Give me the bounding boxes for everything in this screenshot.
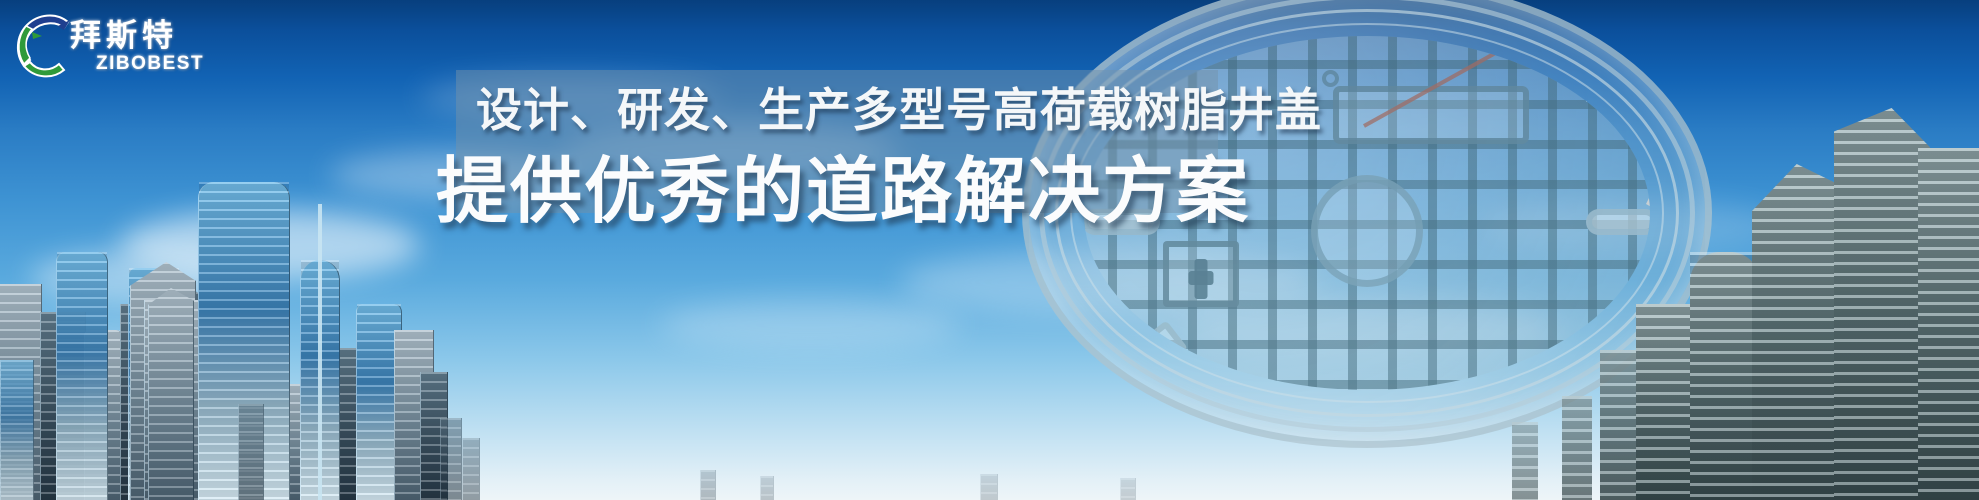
building bbox=[1562, 396, 1592, 500]
building bbox=[148, 288, 194, 500]
building bbox=[0, 360, 34, 500]
headline-line-2: 提供优秀的道路解决方案 bbox=[436, 132, 1250, 237]
building bbox=[1512, 422, 1538, 500]
logo-text-block: 拜斯特 ZIBOBEST bbox=[70, 20, 204, 73]
building bbox=[1918, 148, 1979, 500]
logo-company-name-cn: 拜斯特 bbox=[70, 20, 204, 51]
headline-group: 设计、研发、生产多型号高荷载树脂井盖 提供优秀的道路解决方案 bbox=[456, 70, 1756, 230]
building-tallest-right bbox=[1834, 108, 1930, 500]
building bbox=[238, 404, 264, 500]
building bbox=[760, 476, 774, 500]
building bbox=[462, 438, 480, 500]
logo-company-name-en: ZIBOBEST bbox=[96, 54, 204, 73]
hero-banner: 设计、研发、生产多型号高荷载树脂井盖 提供优秀的道路解决方案 拜斯特 ZIBOB… bbox=[0, 0, 1979, 500]
building bbox=[980, 474, 998, 500]
building bbox=[1120, 478, 1136, 500]
building bbox=[1752, 164, 1838, 500]
headline-line-1: 设计、研发、生产多型号高荷载树脂井盖 bbox=[476, 74, 1322, 140]
building-rounded-tower bbox=[1690, 252, 1760, 500]
building bbox=[1600, 350, 1640, 500]
company-logo[interactable]: 拜斯特 ZIBOBEST bbox=[8, 6, 188, 86]
building bbox=[440, 418, 462, 500]
building bbox=[56, 252, 108, 500]
building bbox=[1636, 304, 1692, 500]
building bbox=[700, 470, 716, 500]
tower-spire bbox=[318, 204, 322, 500]
